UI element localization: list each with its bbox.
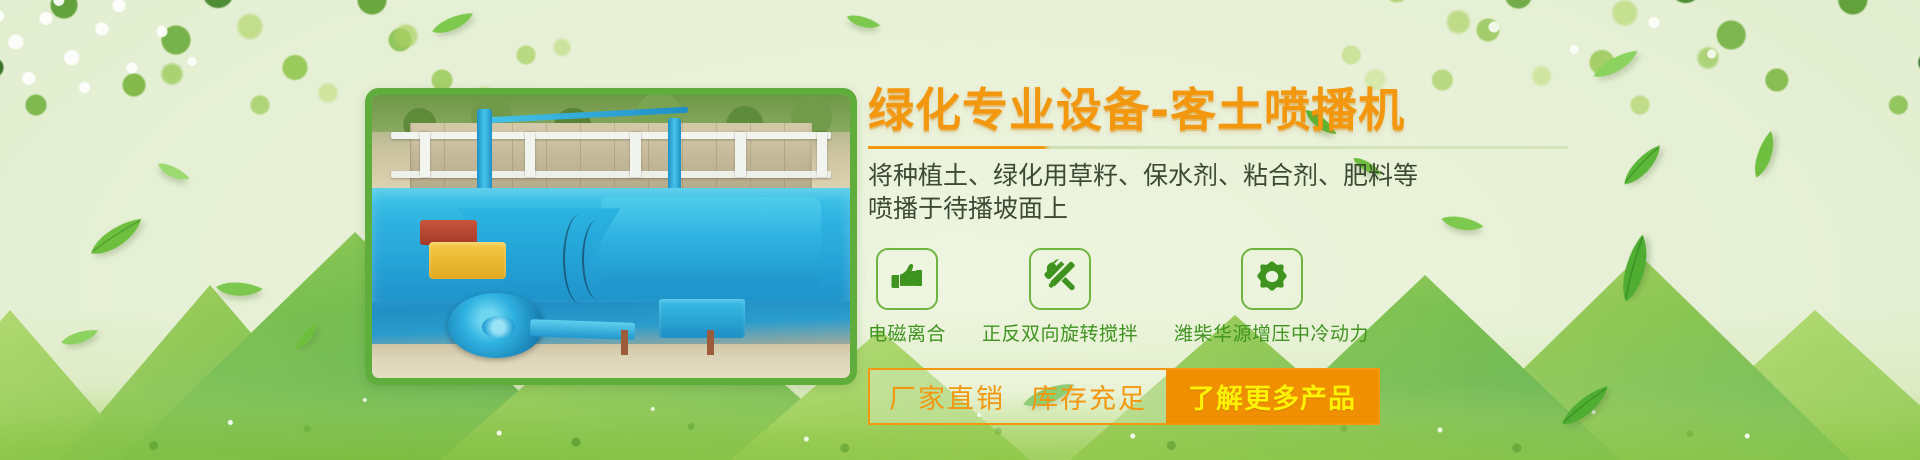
thumbs-up-icon	[890, 261, 924, 296]
photo-cable	[582, 220, 613, 299]
product-image-frame[interactable]	[365, 88, 857, 385]
gear-icon	[1255, 259, 1289, 298]
photo-discharge-pipe	[529, 320, 635, 341]
feature-label: 潍柴华源增压中冷动力	[1174, 319, 1369, 346]
learn-more-button[interactable]: 了解更多产品	[1166, 370, 1378, 423]
photo-railing-top	[391, 132, 831, 139]
photo-railing-post	[735, 132, 746, 177]
cta-tags: 厂家直销 库存充足	[870, 370, 1166, 423]
floating-leaf-icon	[154, 156, 192, 189]
floating-leaf-icon	[59, 327, 101, 348]
cta-tag-direct-sales: 厂家直销	[889, 377, 1005, 416]
mountain-peak	[0, 310, 140, 460]
mountain-peak	[1650, 310, 1920, 460]
floating-leaf-icon	[289, 321, 324, 354]
floating-leaf-icon	[1609, 230, 1664, 307]
tools-icon	[1043, 259, 1077, 298]
photo-railing-post	[525, 132, 536, 177]
floating-leaf-icon	[1744, 128, 1785, 182]
promo-banner: 绿化专业设备-客土喷播机 将种植土、绿化用草籽、保水剂、粘合剂、肥料等 喷播于待…	[0, 0, 1920, 460]
photo-railing-post	[630, 132, 641, 177]
photo-support-leg	[707, 330, 715, 355]
banner-subtitle: 将种植土、绿化用草籽、保水剂、粘合剂、肥料等 喷播于待播坡面上	[868, 160, 1588, 226]
photo-railing-post	[420, 132, 431, 177]
banner-content: 绿化专业设备-客土喷播机 将种植土、绿化用草籽、保水剂、粘合剂、肥料等 喷播于待…	[868, 86, 1588, 425]
photo-control-box	[659, 299, 745, 339]
floating-leaf-icon	[1614, 140, 1672, 192]
product-photo	[372, 95, 850, 378]
white-blossoms-right	[1430, 0, 1750, 90]
floating-leaf-icon	[83, 213, 152, 264]
cta-tag-in-stock: 库存充足	[1031, 377, 1147, 416]
feature-icon-box	[1241, 248, 1303, 310]
floating-leaf-icon	[1588, 47, 1644, 84]
banner-title: 绿化专业设备-客土喷播机	[868, 86, 1588, 136]
subtitle-line-1: 将种植土、绿化用草籽、保水剂、粘合剂、肥料等	[868, 160, 1588, 193]
photo-support-leg	[621, 330, 629, 355]
feature-list: 电磁离合 正反双向旋转搅拌	[868, 248, 1588, 346]
feature-item-bidirectional-mixing[interactable]: 正反双向旋转搅拌	[982, 248, 1138, 346]
floating-leaf-icon	[428, 9, 477, 38]
photo-engine-yellow	[429, 242, 505, 279]
title-divider	[868, 146, 1568, 149]
cta-bar: 厂家直销 库存充足 了解更多产品	[868, 368, 1380, 425]
feature-icon-box	[1029, 248, 1091, 310]
floating-leaf-icon	[213, 275, 264, 305]
mountain-peak	[60, 285, 360, 460]
photo-ground	[372, 344, 850, 378]
photo-tank	[601, 197, 821, 288]
photo-railing-mid	[391, 171, 831, 178]
white-blossoms-left	[0, 0, 420, 120]
feature-item-engine-power[interactable]: 潍柴华源增压中冷动力	[1174, 248, 1369, 346]
feature-item-electromagnetic-clutch[interactable]: 电磁离合	[868, 248, 946, 346]
feature-label: 电磁离合	[868, 319, 946, 346]
feature-icon-box	[876, 248, 938, 310]
floating-leaf-icon	[844, 8, 883, 37]
feature-label: 正反双向旋转搅拌	[982, 319, 1138, 346]
subtitle-line-2: 喷播于待播坡面上	[868, 193, 1588, 226]
photo-red-part	[420, 220, 477, 245]
photo-railing-post	[817, 132, 828, 177]
